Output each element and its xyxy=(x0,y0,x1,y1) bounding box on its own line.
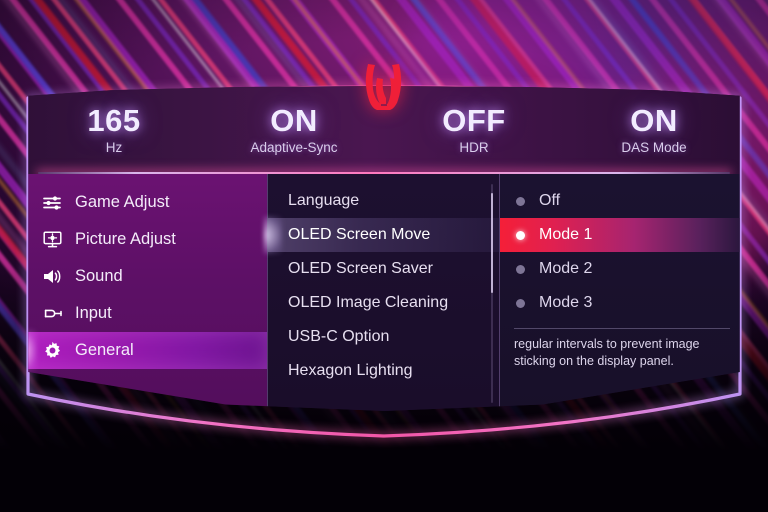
submenu-item-label-oled-image-cleaning: OLED Image Cleaning xyxy=(288,294,448,312)
sidebar-item-input[interactable]: Input xyxy=(24,295,267,332)
option-item-mode-2[interactable]: Mode 2 xyxy=(500,252,744,286)
osd-sidebar: Game Adjust xyxy=(24,174,267,411)
osd-panel: 165 Hz ON Adaptive-Sync OFF HDR ON DAS M… xyxy=(24,86,744,411)
monitor-icon xyxy=(41,230,63,250)
sidebar-item-picture-adjust[interactable]: Picture Adjust xyxy=(24,221,267,258)
submenu-scrollbar-thumb[interactable] xyxy=(491,193,493,294)
sidebar-item-label-picture-adjust: Picture Adjust xyxy=(75,230,176,249)
status-label-refresh-rate: Hz xyxy=(24,140,204,155)
sidebar-item-label-input: Input xyxy=(75,304,112,323)
radio-icon-mode-3 xyxy=(516,299,525,308)
option-description: regular intervals to prevent image stick… xyxy=(500,329,744,371)
submenu-item-label-language: Language xyxy=(288,192,359,210)
option-item-label-mode-1: Mode 1 xyxy=(539,226,592,244)
sidebar-item-general[interactable]: General xyxy=(24,332,267,369)
option-item-mode-1[interactable]: Mode 1 xyxy=(500,218,744,252)
status-label-hdr: HDR xyxy=(384,140,564,155)
status-value-das-mode: ON xyxy=(564,105,744,138)
status-value-refresh-rate: 165 xyxy=(24,105,204,138)
option-item-label-mode-3: Mode 3 xyxy=(539,294,592,312)
status-item-das-mode: ON DAS Mode xyxy=(564,105,744,156)
option-item-label-off: Off xyxy=(539,192,560,210)
sidebar-item-label-game-adjust: Game Adjust xyxy=(75,193,169,212)
option-item-label-mode-2: Mode 2 xyxy=(539,260,592,278)
radio-icon-mode-1 xyxy=(516,231,525,240)
radio-icon-mode-2 xyxy=(516,265,525,274)
osd-submenu: Language OLED Screen Move OLED Screen Sa… xyxy=(267,174,499,411)
submenu-item-oled-screen-saver[interactable]: OLED Screen Saver xyxy=(268,252,499,286)
speaker-icon xyxy=(41,267,63,287)
status-item-adaptive-sync: ON Adaptive-Sync xyxy=(204,105,384,156)
osd-options: Off Mode 1 Mode 2 Mode 3 xyxy=(499,174,744,411)
sidebar-item-sound[interactable]: Sound xyxy=(24,258,267,295)
submenu-scrollbar[interactable] xyxy=(491,184,493,403)
sidebar-item-game-adjust[interactable]: Game Adjust xyxy=(24,184,267,221)
submenu-item-label-oled-screen-saver: OLED Screen Saver xyxy=(288,260,433,278)
submenu-item-label-hexagon-lighting: Hexagon Lighting xyxy=(288,362,413,380)
option-item-mode-3[interactable]: Mode 3 xyxy=(500,286,744,320)
status-label-das-mode: DAS Mode xyxy=(564,140,744,155)
radio-icon-off xyxy=(516,197,525,206)
status-item-refresh-rate: 165 Hz xyxy=(24,105,204,156)
option-item-off[interactable]: Off xyxy=(500,184,744,218)
submenu-item-hexagon-lighting[interactable]: Hexagon Lighting xyxy=(268,354,499,388)
sidebar-item-label-sound: Sound xyxy=(75,267,123,286)
osd-body: 165 Hz ON Adaptive-Sync OFF HDR ON DAS M… xyxy=(24,86,744,411)
status-label-adaptive-sync: Adaptive-Sync xyxy=(204,140,384,155)
submenu-item-label-usb-c-option: USB-C Option xyxy=(288,328,389,346)
submenu-item-label-oled-screen-move: OLED Screen Move xyxy=(288,226,430,244)
lg-ultragear-logo xyxy=(341,60,427,112)
gear-icon xyxy=(41,341,63,361)
sliders-icon xyxy=(41,193,63,213)
screenshot-root: 165 Hz ON Adaptive-Sync OFF HDR ON DAS M… xyxy=(0,0,768,512)
submenu-item-oled-screen-move[interactable]: OLED Screen Move xyxy=(268,218,499,252)
submenu-item-language[interactable]: Language xyxy=(268,184,499,218)
sidebar-item-label-general: General xyxy=(75,341,134,360)
submenu-item-oled-image-cleaning[interactable]: OLED Image Cleaning xyxy=(268,286,499,320)
osd-menu: Game Adjust xyxy=(24,174,744,411)
plug-icon xyxy=(41,304,63,324)
status-item-hdr: OFF HDR xyxy=(384,105,564,156)
submenu-item-usb-c-option[interactable]: USB-C Option xyxy=(268,320,499,354)
